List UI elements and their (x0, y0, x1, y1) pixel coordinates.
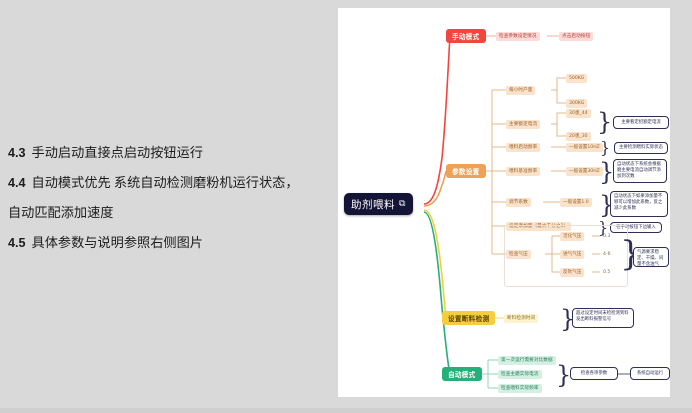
root-node[interactable]: 助剂喂料 ⧉ (344, 193, 413, 215)
leaf-label: 检查参数设定情况 (499, 33, 537, 39)
value-label: 4-6 (603, 252, 611, 257)
leaf-auto-check-freq[interactable]: 检查喂料实际频率 (498, 384, 542, 393)
leaf-label: 进气气压 (563, 251, 581, 257)
doc-line-number: 4.5 (8, 236, 26, 250)
leaf-label: 检查主磨实际电流 (501, 371, 539, 377)
leaf-intake-pressure[interactable]: 进气气压 (560, 250, 584, 259)
leaf-auto-check-current[interactable]: 检查主磨实际电流 (498, 370, 542, 379)
doc-line-text: 手动启动直接点启动按钮运行 (32, 145, 203, 160)
callout-auto-system-run[interactable]: 系统自动运行 (630, 367, 670, 380)
branch-label: 设置断料检测 (448, 313, 489, 323)
leaf-label: 检查气压 (509, 251, 528, 257)
root-node-label: 助剂喂料 (351, 197, 395, 212)
callout-text: 自动状态下系统会根据磨主要电流自动调节添加到次数 (617, 162, 661, 179)
leaf-activation-pressure[interactable]: 活化气压 (560, 232, 584, 241)
leaf-adjust-coefficient[interactable]: 调节系数 (506, 198, 531, 207)
value-hourly-output-0[interactable]: 500KG (566, 74, 587, 83)
copy-icon: ⧉ (399, 199, 406, 209)
callout-text: 检查各项参数 (581, 371, 607, 377)
leaf-hourly-output[interactable]: 每小时产量 (506, 86, 535, 95)
value-feed-start-freq[interactable]: 一般设置10HZ (566, 143, 603, 152)
branch-node-param[interactable]: 参数设置 (446, 164, 486, 178)
doc-line-text: 自动模式优先 系统自动检测磨粉机运行状态， (32, 175, 299, 190)
value-label: 0.3 (603, 234, 610, 239)
brace-feed-start-freq: } (600, 140, 610, 156)
callout-text: 超过设定时间未检检测到料发出断料报警信号 (576, 311, 629, 322)
value-label: 0.5 (603, 270, 610, 275)
callout-feed-start-freq[interactable]: 主要检测喂料实际状态 (614, 142, 668, 154)
leaf-feed-start-freq[interactable]: 喂料启动频率 (506, 143, 540, 152)
document-text-column: 4.3手动启动直接点启动按钮运行 4.4自动模式优先 系统自动检测磨粉机运行状态… (8, 138, 328, 258)
value-label: 500KG (569, 76, 584, 81)
brace-feed-base-freq: } (599, 160, 614, 184)
brace-rated-current: } (597, 110, 612, 134)
leaf-auto-first-run[interactable]: 第一次运行需要对比数据 (498, 356, 556, 365)
leaf-feed-base-freq[interactable]: 喂料基准频率 (506, 167, 540, 176)
value-rated-current-1[interactable]: 20患_30 (566, 132, 591, 141)
branch-label: 自动模式 (448, 369, 476, 379)
leaf-label: 主要额定电流 (509, 121, 537, 127)
callout-auto-check-params[interactable]: 检查各项参数 (570, 367, 618, 380)
callout-text: 系统自动运行 (637, 371, 663, 377)
doc-line-text: 自动匹配添加速度 (8, 205, 114, 220)
branch-node-auto[interactable]: 自动模式 (442, 367, 482, 381)
leaf-manual-press-start[interactable]: 点击启动按钮 (559, 32, 593, 41)
leaf-manual-check-params[interactable]: 检查参数设定情况 (496, 32, 540, 41)
value-label: 20患_30 (569, 133, 588, 139)
doc-line: 自动匹配添加速度 (8, 198, 328, 228)
value-activation-pressure[interactable]: 0.3 (600, 232, 613, 241)
leaf-rated-current[interactable]: 主要额定电流 (506, 120, 540, 129)
doc-line: 4.3手动启动直接点启动按钮运行 (8, 138, 328, 168)
callout-adjust-coefficient[interactable]: 自动状态下如果添加量不够可以增加此系数，反之减少此系数 (610, 191, 668, 217)
callout-text: 主要看定招额定电流 (621, 120, 661, 126)
leaf-label: 反吹气压 (563, 269, 581, 275)
mindmap-canvas: 助剂喂料 ⧉ 手动模式 检查参数设定情况 点击启动按钮 参数设置 每小时产量 (338, 8, 670, 397)
branch-label: 参数设置 (452, 166, 480, 176)
brace-auto: } (556, 363, 571, 387)
branch-label: 手动模式 (452, 31, 480, 41)
callout-feed-base-freq[interactable]: 自动状态下系统会根据磨主要电流自动调节添加到次数 (613, 159, 667, 183)
leaf-label: 检查喂料实际频率 (501, 385, 539, 391)
doc-line: 4.5具体参数与说明参照右侧图片 (8, 228, 328, 258)
callout-text: 主要检测喂料实际状态 (619, 145, 663, 151)
doc-line: 4.4自动模式优先 系统自动检测磨粉机运行状态， (8, 168, 328, 198)
value-label: 一般设置1.0 (563, 199, 589, 205)
leaf-label: 点击启动按钮 (562, 33, 590, 39)
doc-line-number: 4.3 (8, 146, 26, 160)
branch-node-manual[interactable]: 手动模式 (446, 29, 486, 43)
callout-rated-current[interactable]: 主要看定招额定电流 (613, 116, 669, 129)
leaf-label: 调节系数 (509, 199, 528, 205)
bottom-strip (0, 408, 692, 413)
value-feed-base-freq[interactable]: 一般设置30HZ (566, 167, 603, 176)
value-label: 一般设置30HZ (569, 168, 600, 174)
value-label: 30患_44 (569, 110, 588, 116)
callout-air-pressure[interactable]: 气源要求稳定、干燥、同量不含油气 (633, 247, 669, 267)
value-label: 300KG (569, 101, 584, 106)
page-root: 4.3手动启动直接点启动按钮运行 4.4自动模式优先 系统自动检测磨粉机运行状态… (0, 0, 692, 413)
value-adjust-coefficient[interactable]: 一般设置1.0 (560, 198, 592, 207)
doc-line-number: 4.4 (8, 176, 26, 190)
leaf-check-air-pressure[interactable]: 检查气压 (506, 250, 531, 259)
callout-text: 自动状态下如果添加量不够可以增加此系数，反之减少此系数 (614, 194, 662, 211)
doc-line-text: 具体参数与说明参照右侧图片 (32, 235, 203, 250)
leaf-label: 每小时产量 (509, 87, 532, 93)
callout-text: 气源要求稳定、干燥、同量不含油气 (637, 250, 663, 267)
leaf-blowback-pressure[interactable]: 反吹气压 (560, 268, 584, 277)
branch-node-break-detect[interactable]: 设置断料检测 (442, 311, 495, 325)
leaf-label: 喂料启动频率 (509, 144, 537, 150)
value-blowback-pressure[interactable]: 0.5 (600, 268, 613, 277)
leaf-label: 断料检测时间 (507, 315, 535, 321)
value-hourly-output-1[interactable]: 300KG (566, 99, 587, 108)
callout-break-detect[interactable]: 超过设定时间未检检测到料发出断料报警信号 (572, 308, 634, 328)
leaf-label: 第一次运行需要对比数据 (501, 357, 553, 363)
leaf-label: 活化气压 (563, 233, 581, 239)
leaf-label: 喂料基准频率 (509, 168, 537, 174)
value-intake-pressure[interactable]: 4-6 (600, 250, 614, 259)
leaf-break-detect-time[interactable]: 断料检测时间 (504, 314, 538, 323)
value-label: 一般设置10HZ (569, 144, 600, 150)
mindmap-panel: 助剂喂料 ⧉ 手动模式 检查参数设定情况 点击启动按钮 参数设置 每小时产量 (338, 8, 670, 397)
value-rated-current-0[interactable]: 30患_44 (566, 109, 591, 118)
